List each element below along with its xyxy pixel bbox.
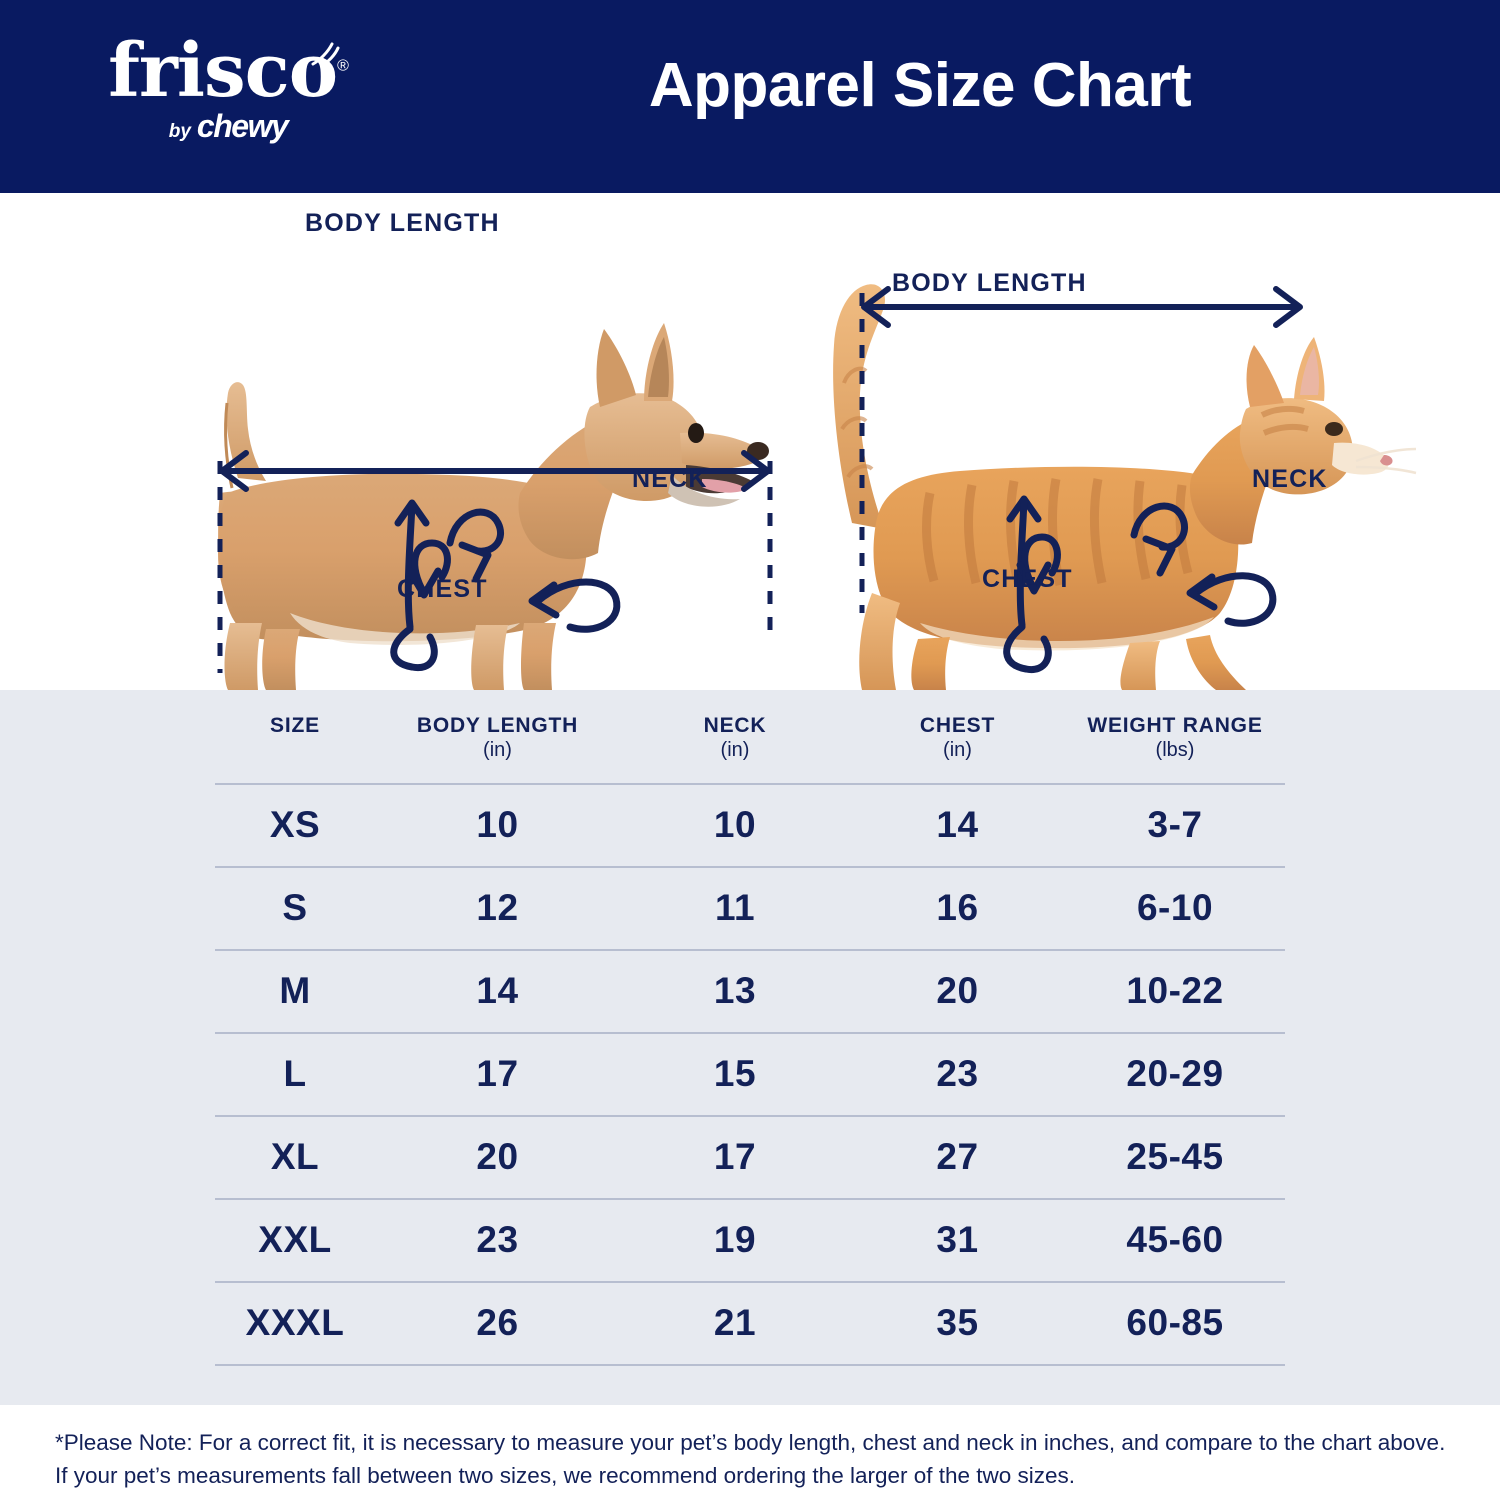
frisco-swoosh-icon — [310, 42, 340, 68]
cell-body-length: 10 — [375, 784, 620, 867]
cell-chest: 14 — [850, 784, 1065, 867]
frisco-logo: frisco® by chewy — [78, 36, 378, 145]
cat-body-length-label: BODY LENGTH — [892, 269, 1087, 298]
cell-neck: 13 — [620, 950, 850, 1033]
cell-chest: 20 — [850, 950, 1065, 1033]
cell-body-length: 12 — [375, 867, 620, 950]
column-header-body-length: BODY LENGTH (in) — [375, 700, 620, 784]
brand-wordmark: frisco® — [108, 36, 348, 106]
cell-size: XL — [215, 1116, 375, 1199]
apparel-size-table: SIZE BODY LENGTH (in) NECK (in) CHEST (i… — [215, 700, 1285, 1366]
brand-name-text: frisco — [108, 28, 337, 114]
cell-size: XXL — [215, 1199, 375, 1282]
cell-chest: 23 — [850, 1033, 1065, 1116]
column-header-chest-label: CHEST — [920, 714, 995, 737]
cell-neck: 11 — [620, 867, 850, 950]
cat-ear-back — [1247, 345, 1284, 407]
cell-chest: 27 — [850, 1116, 1065, 1199]
cell-size: S — [215, 867, 375, 950]
please-note-text: *Please Note: For a correct fit, it is n… — [55, 1427, 1455, 1492]
dog-illustration — [120, 193, 800, 690]
dog-eye — [688, 423, 704, 443]
cell-chest: 31 — [850, 1199, 1065, 1282]
cell-size: XS — [215, 784, 375, 867]
column-header-size-label: SIZE — [270, 714, 320, 737]
cell-neck: 15 — [620, 1033, 850, 1116]
cat-chest-label: CHEST — [982, 565, 1073, 594]
table-body: XS 10 10 14 3-7 S 12 11 16 6-10 M 14 13 — [215, 784, 1285, 1365]
cell-chest: 35 — [850, 1282, 1065, 1365]
column-header-weight-range: WEIGHT RANGE (lbs) — [1065, 700, 1285, 784]
cell-size: XXXL — [215, 1282, 375, 1365]
column-header-chest: CHEST (in) — [850, 700, 1065, 784]
table-row: XXL 23 19 31 45-60 — [215, 1199, 1285, 1282]
cell-body-length: 26 — [375, 1282, 620, 1365]
dog-front-leg-far — [521, 623, 556, 690]
dog-measurement-diagram: BODY LENGTH NECK CHEST — [120, 193, 800, 690]
table-header-row-group: SIZE BODY LENGTH (in) NECK (in) CHEST (i… — [215, 700, 1285, 784]
cell-weight: 6-10 — [1065, 867, 1285, 950]
column-header-neck-label: NECK — [704, 714, 767, 737]
cat-eye — [1325, 422, 1343, 436]
column-header-chest-unit: (in) — [850, 738, 1065, 761]
column-header-body-length-label: BODY LENGTH — [417, 714, 578, 737]
cell-neck: 19 — [620, 1199, 850, 1282]
cell-size: M — [215, 950, 375, 1033]
table-row: XS 10 10 14 3-7 — [215, 784, 1285, 867]
cell-body-length: 14 — [375, 950, 620, 1033]
size-chart-page: frisco® by chewy Apparel Size Chart — [0, 0, 1500, 1500]
cell-weight: 3-7 — [1065, 784, 1285, 867]
cell-size: L — [215, 1033, 375, 1116]
cat-hind-leg-near — [859, 593, 900, 690]
page-header: frisco® by chewy Apparel Size Chart — [0, 0, 1500, 193]
cat-illustration — [800, 193, 1420, 690]
dog-body-length-label: BODY LENGTH — [305, 209, 500, 238]
column-header-body-length-unit: (in) — [375, 738, 620, 761]
cell-weight: 45-60 — [1065, 1199, 1285, 1282]
cell-body-length: 20 — [375, 1116, 620, 1199]
cat-tail — [833, 284, 885, 529]
cell-body-length: 17 — [375, 1033, 620, 1116]
cell-neck: 10 — [620, 784, 850, 867]
cell-neck: 21 — [620, 1282, 850, 1365]
column-header-weight-range-label: WEIGHT RANGE — [1087, 714, 1262, 737]
dog-neck-label: NECK — [632, 465, 708, 494]
cat-hind-leg-far — [911, 637, 950, 690]
table-row: L 17 15 23 20-29 — [215, 1033, 1285, 1116]
table-row: S 12 11 16 6-10 — [215, 867, 1285, 950]
cat-neck-label: NECK — [1252, 465, 1328, 494]
dog-hind-leg-near — [225, 623, 263, 690]
table-row: XXXL 26 21 35 60-85 — [215, 1282, 1285, 1365]
cell-weight: 60-85 — [1065, 1282, 1285, 1365]
cat-front-leg-far — [1186, 635, 1246, 690]
cat-front-leg-near — [1120, 641, 1160, 690]
dog-front-leg-near — [471, 625, 508, 690]
page-title: Apparel Size Chart — [420, 50, 1420, 121]
column-header-size: SIZE — [215, 700, 375, 784]
table-row: M 14 13 20 10-22 — [215, 950, 1285, 1033]
dog-hind-leg-far — [262, 629, 300, 690]
table-header-row: SIZE BODY LENGTH (in) NECK (in) CHEST (i… — [215, 700, 1285, 784]
column-header-neck-unit: (in) — [620, 738, 850, 761]
column-header-weight-range-unit: (lbs) — [1065, 738, 1285, 761]
footer-area: *Please Note: For a correct fit, it is n… — [0, 1405, 1500, 1500]
cell-weight: 25-45 — [1065, 1116, 1285, 1199]
dog-ear-back — [597, 329, 636, 407]
cell-weight: 10-22 — [1065, 950, 1285, 1033]
dog-chest-label: CHEST — [397, 575, 488, 604]
cell-chest: 16 — [850, 867, 1065, 950]
cell-weight: 20-29 — [1065, 1033, 1285, 1116]
table-row: XL 20 17 27 25-45 — [215, 1116, 1285, 1199]
size-table-area: SIZE BODY LENGTH (in) NECK (in) CHEST (i… — [0, 690, 1500, 1405]
byline-by-text: by — [169, 121, 191, 143]
column-header-neck: NECK (in) — [620, 700, 850, 784]
measurement-diagrams: BODY LENGTH NECK CHEST — [0, 193, 1500, 690]
cell-body-length: 23 — [375, 1199, 620, 1282]
cat-measurement-diagram: BODY LENGTH NECK CHEST — [800, 193, 1420, 690]
cell-neck: 17 — [620, 1116, 850, 1199]
